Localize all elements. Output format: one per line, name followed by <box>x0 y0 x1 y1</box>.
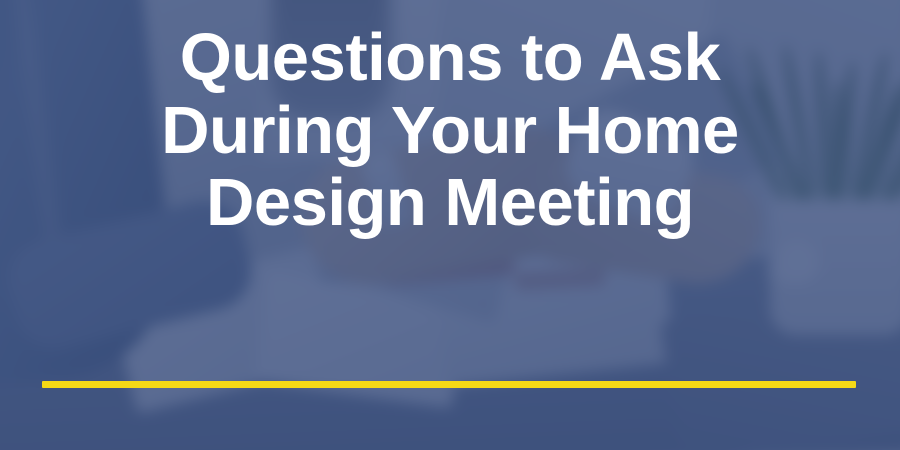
headline-line-2: During Your Home <box>30 95 870 168</box>
blog-header-banner: Questions to Ask During Your Home Design… <box>0 0 900 450</box>
page-title: Questions to Ask During Your Home Design… <box>30 22 870 240</box>
yellow-divider <box>42 381 856 388</box>
headline-line-1: Questions to Ask <box>30 22 870 95</box>
headline-line-3: Design Meeting <box>30 167 870 240</box>
